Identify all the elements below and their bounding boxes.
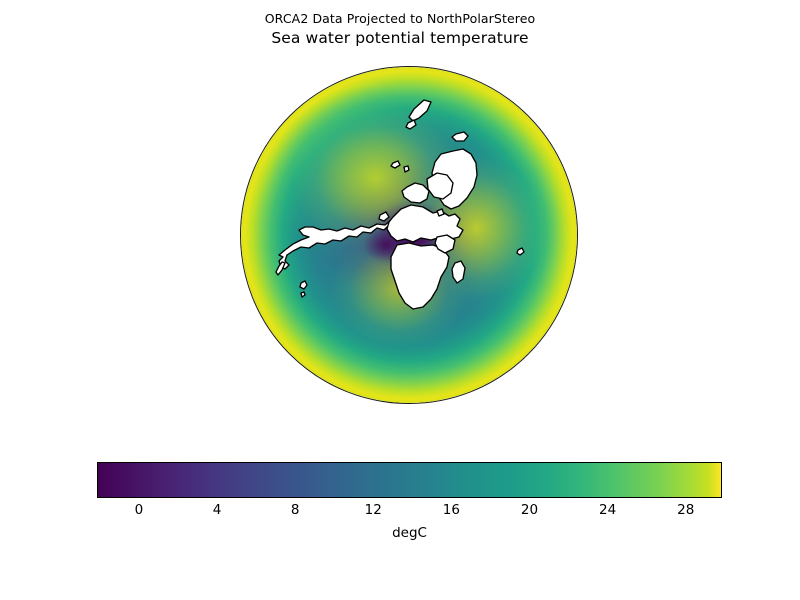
colorbar: 0 4 8 12 16 20 24 28 degC [97, 462, 722, 498]
colorbar-tick-28: 28 [677, 502, 694, 518]
colorbar-tick-8: 8 [291, 502, 300, 518]
colorbar-tick-0: 0 [135, 502, 144, 518]
colorbar-tick-20: 20 [521, 502, 538, 518]
map-axes [240, 66, 578, 404]
title-block: ORCA2 Data Projected to NorthPolarStereo… [0, 0, 800, 48]
colorbar-tick-4: 4 [213, 502, 222, 518]
colorbar-axis-label: degC [97, 525, 722, 541]
colorbar-tick-16: 16 [443, 502, 460, 518]
polar-stereographic-disc [240, 66, 578, 404]
colorbar-gradient [97, 462, 722, 498]
figure-suptitle: ORCA2 Data Projected to NorthPolarStereo [0, 11, 800, 26]
temperature-field-outer-rim [241, 67, 577, 403]
figure-title: Sea water potential temperature [0, 29, 800, 48]
colorbar-tick-24: 24 [599, 502, 616, 518]
colorbar-tick-12: 12 [365, 502, 382, 518]
